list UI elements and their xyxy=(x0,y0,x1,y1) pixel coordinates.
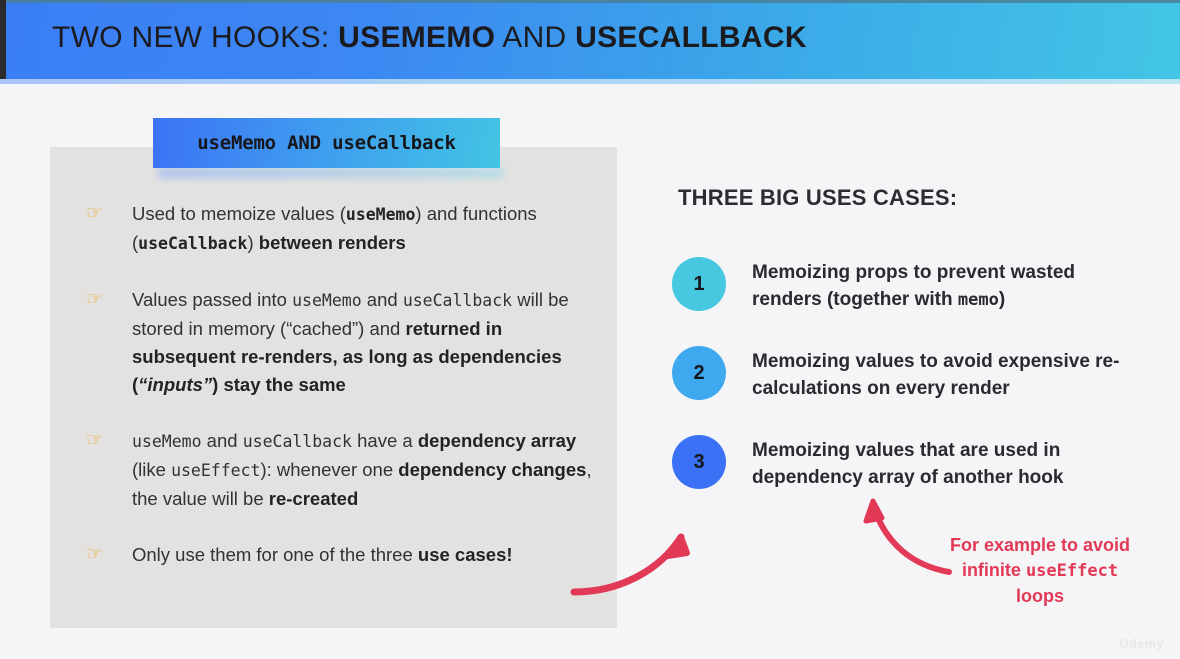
use-case-item-3: 3 Memoizing values that are used in depe… xyxy=(672,435,1132,491)
plain-text: have a xyxy=(352,430,418,451)
pointing-right-hand-icon: ☞ xyxy=(86,289,114,311)
page-title: TWO NEW HOOKS: USEMEMO AND USECALLBACK xyxy=(52,21,807,55)
italic-text: “inputs” xyxy=(138,374,212,395)
arrow-bullets-to-usecase-head xyxy=(668,537,687,556)
plain-text: and xyxy=(362,289,403,310)
plain-text: ): whenever one xyxy=(260,459,398,480)
plain-text: (like xyxy=(132,459,171,480)
use-case-number-1: 1 xyxy=(672,257,726,311)
code-token: useMemo xyxy=(132,432,202,451)
bullet-list: ☞Used to memoize values (useMemo) and fu… xyxy=(86,200,596,597)
bullet-dependency-array: ☞useMemo and useCallback have a dependen… xyxy=(86,427,596,513)
code-token: useEffect xyxy=(171,461,260,480)
bullet-text: useMemo and useCallback have a dependenc… xyxy=(132,430,592,509)
bullet-text: Values passed into useMemo and useCallba… xyxy=(132,289,569,395)
plain-text: ) xyxy=(247,232,258,253)
arrow-note-to-usecase-head xyxy=(866,501,882,521)
frame-edge-left xyxy=(0,0,6,79)
header-underline xyxy=(0,79,1180,84)
emphasis-text: Memoizing values to avoid expensive re-c… xyxy=(752,351,1119,399)
uses-heading: THREE BIG USES CASES: xyxy=(678,185,957,211)
plain-text: and xyxy=(202,430,243,451)
code-token: memo xyxy=(958,290,999,310)
emphasis-text: between renders xyxy=(259,232,406,253)
code-token: useCallback xyxy=(138,234,247,253)
page-title-part-2: AND xyxy=(495,21,575,54)
bullet-memoize-values: ☞Used to memoize values (useMemo) and fu… xyxy=(86,200,596,258)
pointing-right-hand-icon: ☞ xyxy=(86,430,114,452)
emphasis-text: dependency changes xyxy=(398,459,586,480)
emphasis-text: “inputs” xyxy=(138,374,212,395)
code-token: useMemo xyxy=(292,291,362,310)
plain-text: Only use them for one of the three xyxy=(132,544,418,565)
pointing-right-hand-icon: ☞ xyxy=(86,203,114,225)
bullet-text: Used to memoize values (useMemo) and fun… xyxy=(132,203,537,253)
emphasis-text: Memoizing values that are used in depend… xyxy=(752,440,1063,488)
use-case-number-3: 3 xyxy=(672,435,726,489)
use-case-number-2: 2 xyxy=(672,346,726,400)
pointing-right-hand-icon: ☞ xyxy=(86,544,114,566)
bullet-only-three-cases: ☞Only use them for one of the three use … xyxy=(86,541,596,569)
code-token: useMemo xyxy=(346,205,416,224)
page-title-part-1: TWO NEW HOOKS: xyxy=(52,21,338,54)
emphasis-text: Memoizing props to prevent wasted render… xyxy=(752,262,1075,310)
emphasis-text: ) stay the same xyxy=(212,374,346,395)
page-title-usememo: USEMEMO xyxy=(338,21,495,54)
hooks-badge-label: useMemo AND useCallback xyxy=(197,132,456,154)
bullet-text: Only use them for one of the three use c… xyxy=(132,544,513,565)
use-case-text-3: Memoizing values that are used in depend… xyxy=(752,437,1132,491)
emphasis-text: loops xyxy=(1016,586,1064,606)
use-case-text-1: Memoizing props to prevent wasted render… xyxy=(752,259,1132,314)
plain-text: Values passed into xyxy=(132,289,292,310)
header-bar: TWO NEW HOOKS: USEMEMO AND USECALLBACK xyxy=(0,0,1180,79)
code-token: useEffect xyxy=(1026,561,1118,581)
frame-edge-top xyxy=(0,0,1180,3)
red-annotation-note: For example to avoid infinite useEffect … xyxy=(945,533,1135,609)
emphasis-text: re-created xyxy=(269,488,358,509)
hooks-badge: useMemo AND useCallback xyxy=(153,118,500,168)
arrow-note-to-usecase xyxy=(873,505,949,572)
plain-text: Used to memoize values ( xyxy=(132,203,346,224)
use-case-item-2: 2 Memoizing values to avoid expensive re… xyxy=(672,346,1132,402)
badge-shadow xyxy=(158,168,504,178)
emphasis-text: use cases! xyxy=(418,544,513,565)
use-case-item-1: 1 Memoizing props to prevent wasted rend… xyxy=(672,257,1132,314)
page-title-usecallback: USECALLBACK xyxy=(575,21,807,54)
slide-canvas: TWO NEW HOOKS: USEMEMO AND USECALLBACK u… xyxy=(0,0,1180,659)
use-case-text-2: Memoizing values to avoid expensive re-c… xyxy=(752,348,1132,402)
code-token: useCallback xyxy=(243,432,352,451)
emphasis-text: ) xyxy=(999,289,1005,310)
watermark: Udemy xyxy=(1119,636,1164,651)
code-token: useCallback xyxy=(403,291,512,310)
bullet-values-cached: ☞Values passed into useMemo and useCallb… xyxy=(86,286,596,399)
emphasis-text: dependency array xyxy=(418,430,576,451)
